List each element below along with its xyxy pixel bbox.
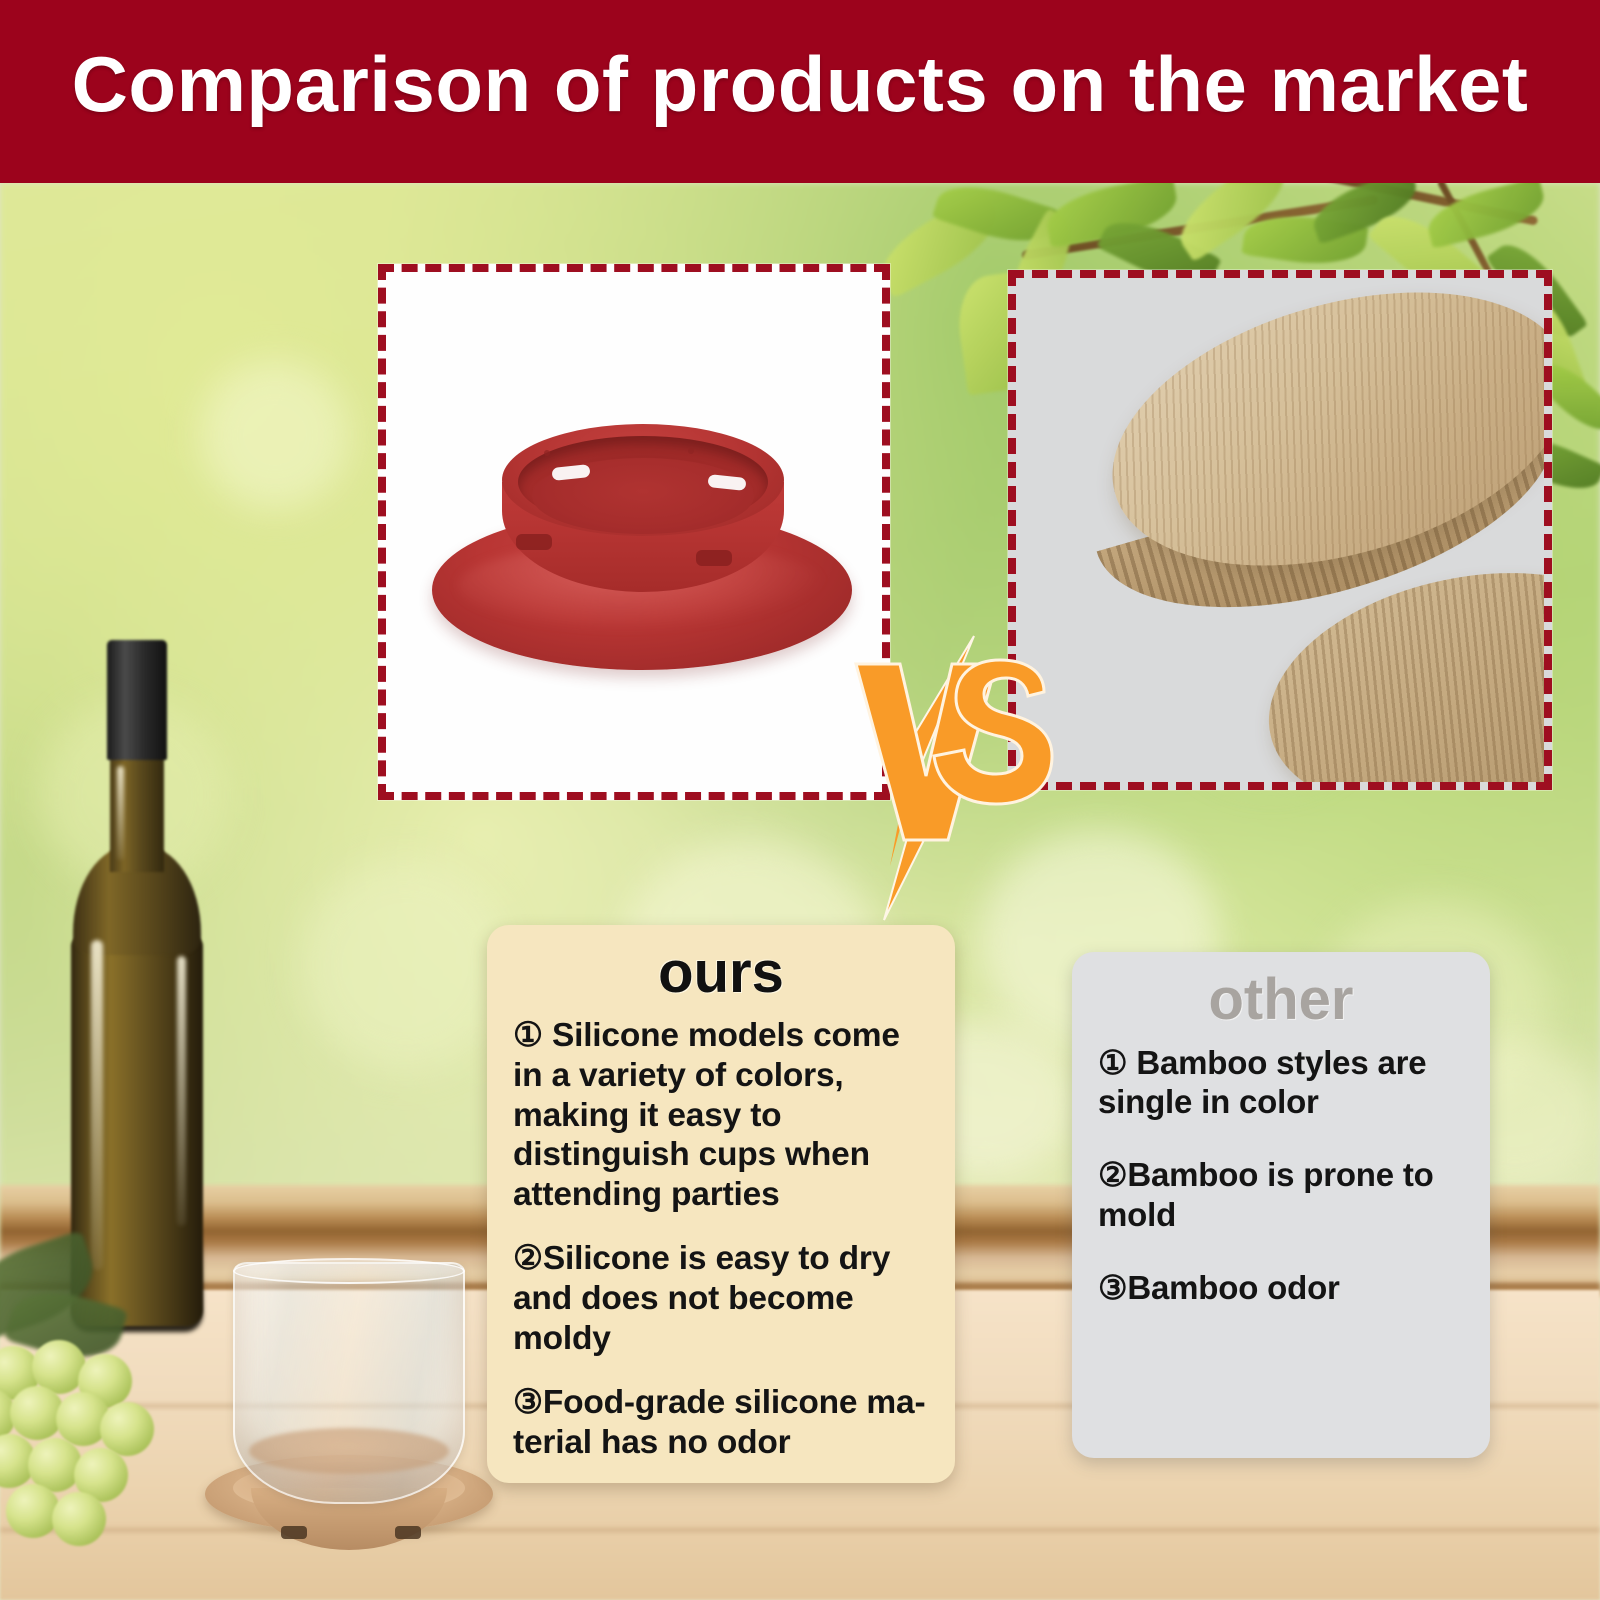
bokeh-blob: [300, 860, 510, 1070]
other-panel-heading: other: [1098, 970, 1464, 1031]
ours-product-frame: [378, 264, 890, 800]
coaster-vent-slot: [281, 1526, 307, 1539]
ours-bullet-2: ②Silicone is easy to dry and does not be…: [513, 1239, 929, 1359]
wine-bottle: [55, 640, 215, 1320]
bottle-cap: [107, 640, 167, 760]
grape: [100, 1402, 154, 1456]
lid-notch: [696, 550, 732, 566]
bottle-highlight: [177, 956, 186, 1226]
other-comparison-panel: other ① Bamboo styles are single in colo…: [1072, 952, 1490, 1458]
vs-graphic: VS: [848, 628, 1068, 928]
ours-bullet-1: ① Silicone models come in a variety of c…: [513, 1016, 929, 1215]
green-grapes: [0, 1340, 170, 1540]
other-product-frame: [1008, 270, 1552, 790]
glass-rim: [233, 1258, 465, 1284]
grape: [6, 1484, 60, 1538]
other-bullet-2: ②Bamboo is prone to mold: [1098, 1155, 1464, 1234]
ours-panel-heading: ours: [513, 943, 929, 1004]
drinking-glass-on-coaster: [205, 1240, 505, 1560]
other-bullet-1: ① Bamboo styles are single in color: [1098, 1043, 1464, 1122]
lid-pinhole: [544, 450, 550, 456]
page-title: Comparison of products on the market: [0, 0, 1600, 183]
lid-pinhole: [688, 448, 694, 454]
bottle-highlight: [117, 766, 124, 860]
ours-comparison-panel: ours ① Silicone models come in a variety…: [487, 925, 955, 1483]
header-banner: Comparison of products on the market: [0, 0, 1600, 183]
vs-badge: VS: [848, 628, 1068, 928]
lid-notch: [516, 534, 552, 550]
other-bullet-3: ③Bamboo odor: [1098, 1268, 1464, 1307]
bokeh-blob: [200, 360, 350, 510]
ours-bullet-3: ③Food-grade silicone ma-terial has no od…: [513, 1383, 929, 1463]
coaster-vent-slot: [395, 1526, 421, 1539]
glass-liquid-reflection: [249, 1428, 449, 1474]
red-silicone-lid-image: [432, 392, 852, 682]
grape: [52, 1492, 106, 1546]
bottle-highlight: [91, 940, 103, 1270]
